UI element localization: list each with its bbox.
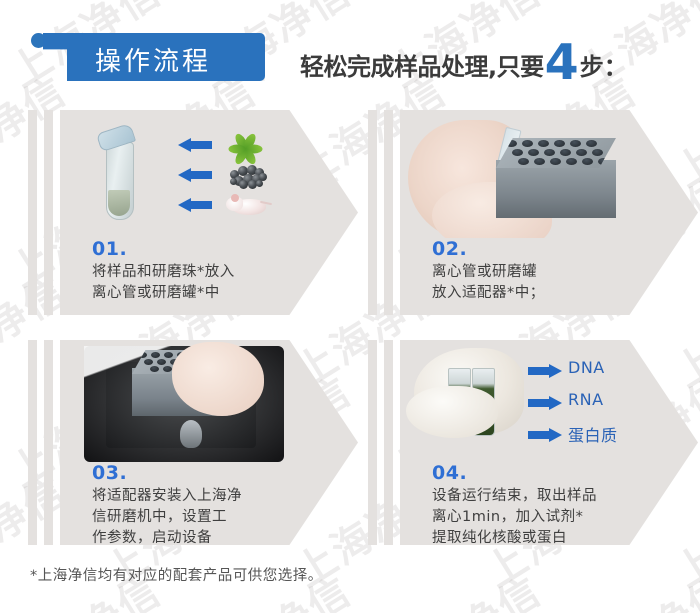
centrifuge-tube-icon — [100, 128, 136, 220]
arrow-left-icon-2 — [178, 168, 212, 181]
tube-liquid — [108, 190, 130, 216]
grinding-beads-icon — [228, 162, 266, 186]
output-label-dna: DNA — [568, 358, 605, 377]
steps-grid: 01. 将样品和研磨珠*放入 离心管或研磨罐*中 02. 离心管或研磨罐 放入适… — [0, 104, 700, 554]
header-tagline: 轻松完成样品处理,只要 4 步： — [300, 39, 628, 82]
mouse-icon — [226, 192, 270, 218]
step-01-illustration — [60, 110, 310, 235]
card-stripe-inner — [384, 110, 393, 315]
card-stripe-outer — [368, 110, 377, 315]
card-stripe-inner — [44, 340, 53, 545]
adapter-block-icon — [496, 160, 616, 218]
section-banner-label: 操作流程 — [95, 41, 211, 78]
card-stripe-inner — [44, 110, 53, 315]
grinder-machine-icon — [84, 346, 284, 462]
step-caption-04: 设备运行结束，取出样品 离心1min，加入试剂* 提取纯化核酸或蛋白 — [432, 486, 597, 545]
watermark-text: 上海净信 — [567, 560, 700, 613]
watermark-text: 上海净信 — [377, 560, 550, 613]
arrow-right-icon-rna — [528, 396, 562, 409]
card-stripe-outer — [28, 340, 37, 545]
tagline-after: 步： — [580, 47, 628, 82]
step-number-01: 01. — [92, 238, 127, 260]
step-number-04: 04. — [432, 462, 467, 484]
step-number-02: 02. — [432, 238, 467, 260]
gloved-fingers — [406, 386, 498, 438]
step-card-panel: 01. 将样品和研磨珠*放入 离心管或研磨罐*中 — [60, 110, 358, 315]
step-card-03: 03. 将适配器安装入上海净 信研磨机中，设置工 作参数，启动设备 — [28, 340, 358, 545]
step-caption-01: 将样品和研磨珠*放入 离心管或研磨罐*中 — [92, 262, 235, 304]
arrow-left-icon-1 — [178, 138, 212, 151]
output-label-protein: 蛋白质 — [568, 422, 618, 446]
step-card-02: 02. 离心管或研磨罐 放入适配器*中； — [368, 110, 698, 315]
card-stripe-outer — [28, 110, 37, 315]
tagline-step-count: 4 — [545, 43, 579, 82]
output-label-rna: RNA — [568, 390, 604, 409]
step-02-illustration — [400, 110, 650, 238]
step-card-panel: 03. 将适配器安装入上海净 信研磨机中，设置工 作参数，启动设备 — [60, 340, 358, 545]
step-card-01: 01. 将样品和研磨珠*放入 离心管或研磨罐*中 — [28, 110, 358, 315]
step-card-panel: DNA RNA 蛋白质 04. 设备运行结束，取出样品 离心1min，加入试剂*… — [400, 340, 698, 545]
card-stripe-outer — [368, 340, 377, 545]
arrow-right-icon-protein — [528, 428, 562, 441]
step-card-panel: 02. 离心管或研磨罐 放入适配器*中； — [400, 110, 698, 315]
card-stripe-inner — [384, 340, 393, 545]
tagline-before: 轻松完成样品处理,只要 — [300, 47, 544, 82]
footer-note: *上海净信均有对应的配套产品可供您选择。 — [30, 564, 323, 585]
step-caption-02: 离心管或研磨罐 放入适配器*中； — [432, 262, 545, 304]
step-04-illustration: DNA RNA 蛋白质 — [400, 340, 650, 462]
leaf-icon — [228, 126, 262, 156]
step-card-04: DNA RNA 蛋白质 04. 设备运行结束，取出样品 离心1min，加入试剂*… — [368, 340, 698, 545]
step-caption-03: 将适配器安装入上海净 信研磨机中，设置工 作参数，启动设备 — [92, 486, 242, 545]
arrow-left-icon-3 — [178, 198, 212, 211]
page-header: 操作流程 轻松完成样品处理,只要 4 步： — [0, 0, 700, 100]
machine-knob — [180, 420, 202, 448]
step-number-03: 03. — [92, 462, 127, 484]
step-03-illustration — [60, 340, 310, 462]
arrow-right-icon-dna — [528, 364, 562, 377]
